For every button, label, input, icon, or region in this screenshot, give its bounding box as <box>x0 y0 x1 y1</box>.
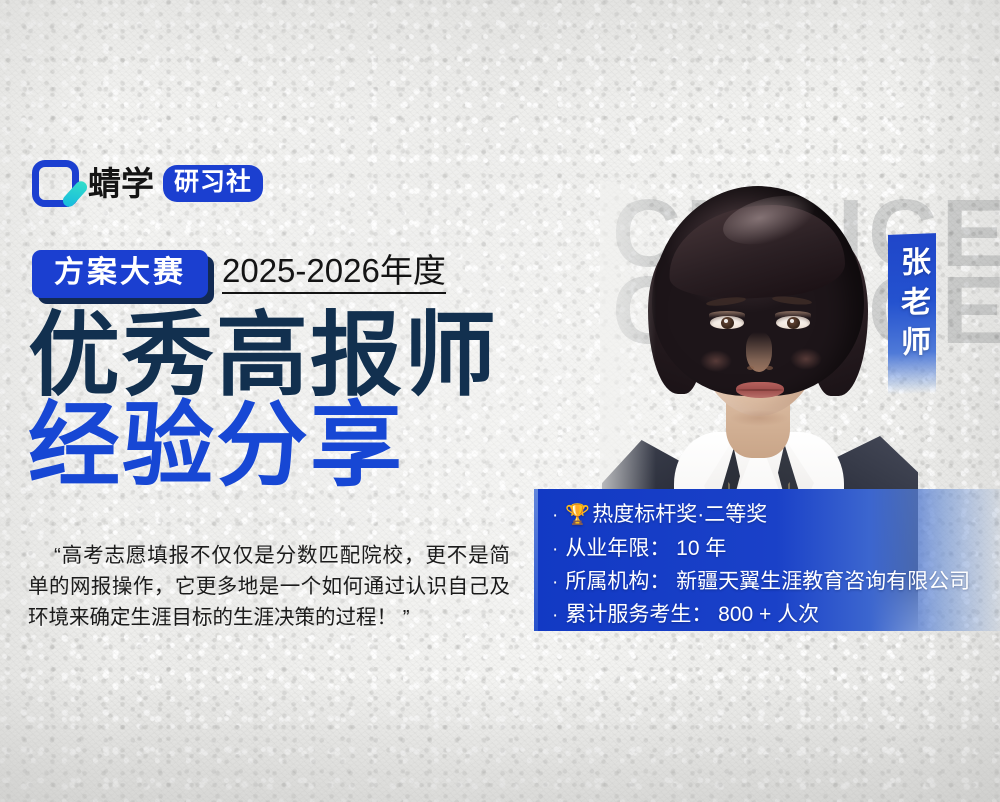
info-line-students-served: · 累计服务考生： 800 + 人次 <box>552 598 1000 631</box>
info-organization-text: 所属机构： 新疆天翼生涯教育咨询有限公司 <box>565 565 970 598</box>
teacher-name-tag: 张老师 <box>888 233 936 395</box>
brand-logo[interactable]: 蜻学 研习社 <box>32 160 263 207</box>
contest-year-label: 2025-2026年度 <box>222 254 446 294</box>
headline-line-2: 经验分享 <box>28 402 498 490</box>
poster-root: CHOICE CHOICE <box>0 0 1000 802</box>
info-line-experience: · 从业年限： 10 年 <box>552 532 1000 565</box>
nostril-left <box>747 366 754 370</box>
brand-pill-label: 研习社 <box>163 165 263 202</box>
eyelid-right <box>775 311 811 318</box>
q-tail-icon <box>61 179 90 209</box>
info-experience-text: 从业年限： 10 年 <box>565 532 726 565</box>
bullet-dot-icon: · <box>552 535 558 565</box>
contest-badge: 方案大赛 <box>32 250 208 298</box>
eyelid-left <box>709 311 745 318</box>
teacher-name-text: 张老师 <box>897 245 927 366</box>
bullet-dot-icon: · <box>552 601 558 631</box>
headline-line-1: 优秀高报师 <box>28 312 498 400</box>
q-mark-icon <box>32 160 79 207</box>
info-award-text: 热度标杆奖·二等奖 <box>592 498 767 531</box>
info-line-organization: · 所属机构： 新疆天翼生涯教育咨询有限公司 <box>552 565 1000 598</box>
cheek-left <box>700 350 732 372</box>
nostril-right <box>766 366 773 370</box>
info-line-award: · 🏆 热度标杆奖·二等奖 <box>552 498 1000 532</box>
lip-line <box>736 389 784 391</box>
bullet-dot-icon: · <box>552 501 558 531</box>
page-title: 优秀高报师 经验分享 <box>28 312 498 491</box>
cheek-right <box>790 348 822 370</box>
teacher-quote: “高考志愿填报不仅仅是分数匹配院校，更不是简单的网报操作，它更多地是一个如何通过… <box>28 540 510 633</box>
contest-badge-row: 方案大赛 2025-2026年度 <box>32 250 446 298</box>
chin-shadow <box>730 410 788 426</box>
teacher-info-panel: · 🏆 热度标杆奖·二等奖 · 从业年限： 10 年 · 所属机构： 新疆天翼生… <box>534 489 1000 631</box>
iris-left <box>721 317 734 329</box>
bullet-dot-icon: · <box>552 568 558 598</box>
brand-wordmark: 蜻学 <box>88 167 154 200</box>
trophy-icon: 🏆 <box>565 500 590 532</box>
iris-right <box>787 317 800 329</box>
info-students-served-text: 累计服务考生： 800 + 人次 <box>565 598 819 631</box>
